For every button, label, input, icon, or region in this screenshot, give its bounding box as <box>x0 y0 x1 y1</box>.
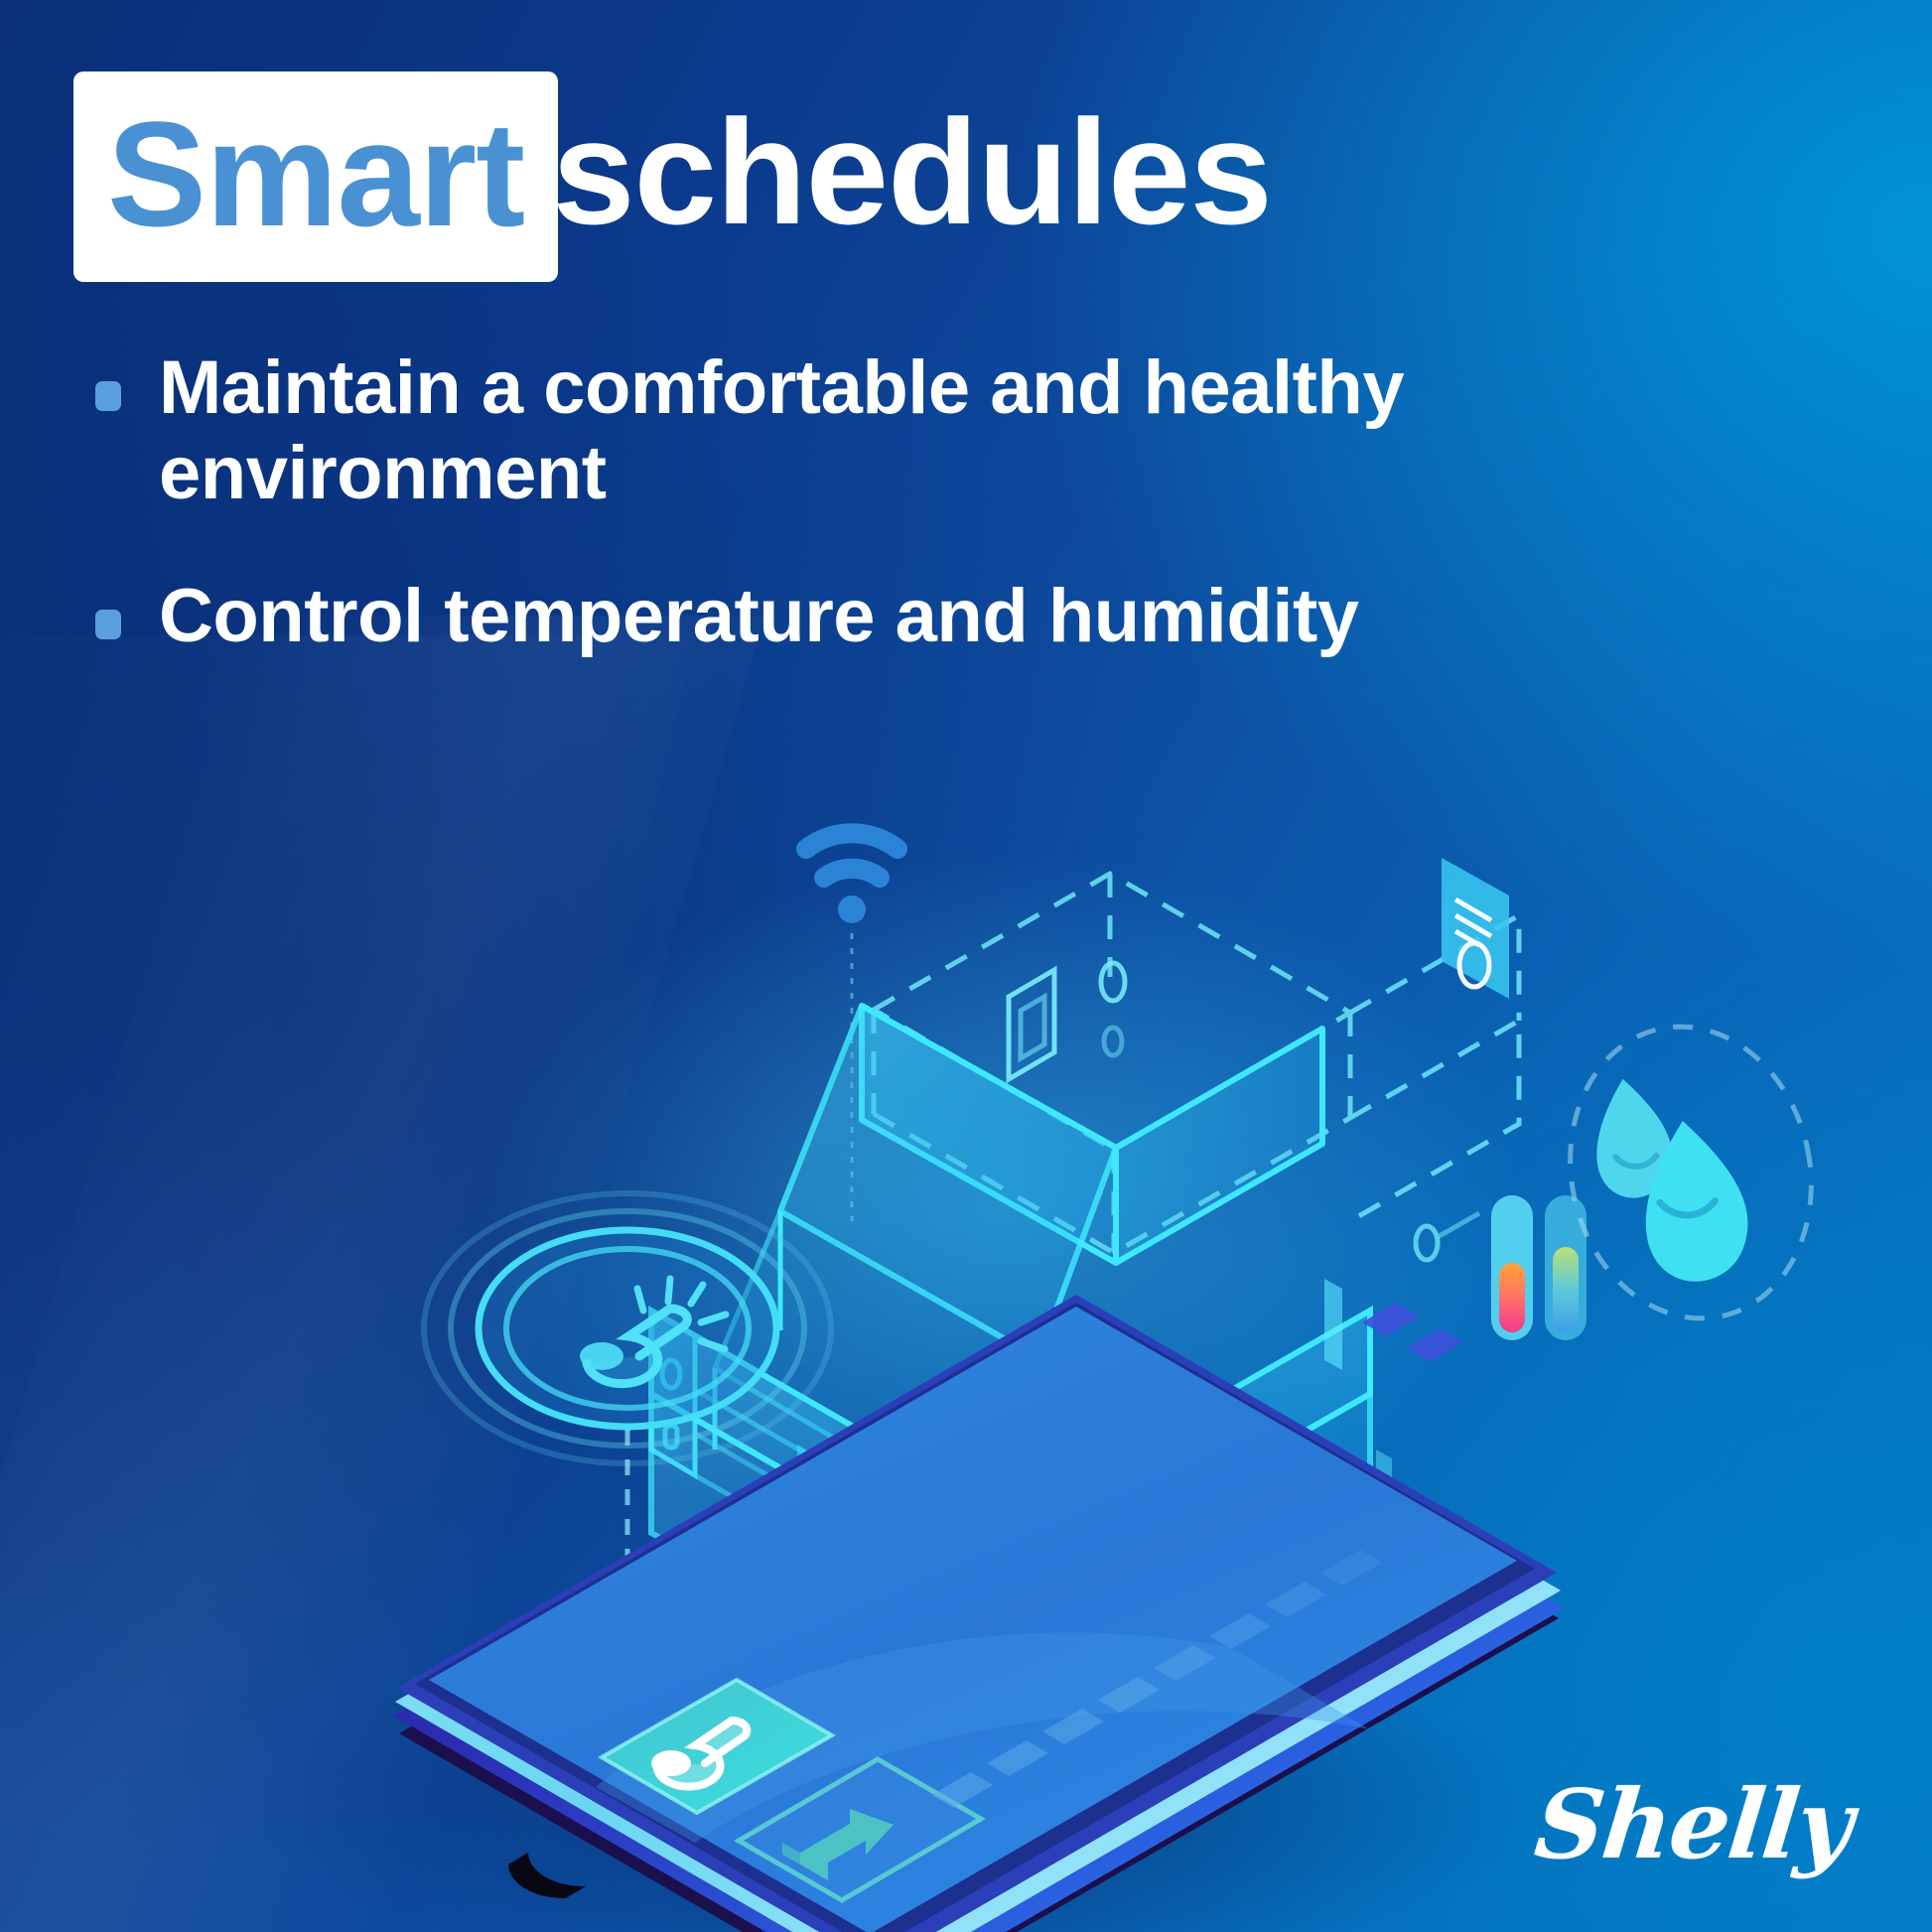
page-title: Smart schedules <box>73 71 1272 282</box>
shelly-logo: Shelly <box>1530 1768 1857 1880</box>
water-drop-icon <box>1584 1061 1757 1295</box>
headline-highlight: Smart <box>73 71 558 282</box>
feature-list: Maintain a comfortable and healthy envir… <box>95 345 1843 717</box>
list-item: Maintain a comfortable and healthy envir… <box>95 345 1843 516</box>
temperature-bar <box>1499 1263 1525 1332</box>
bullet-marker-icon <box>95 610 121 639</box>
humidity-badge <box>1544 1004 1838 1340</box>
list-item: Control temperature and humidity <box>95 574 1843 659</box>
bullet-marker-icon <box>95 381 121 411</box>
headline-rest: schedules <box>552 97 1272 246</box>
humidity-bar <box>1553 1247 1579 1332</box>
illustration-stage <box>0 755 1932 1932</box>
bullet-text: Maintain a comfortable and healthy envir… <box>159 345 1479 516</box>
temperature-humidity-sensor <box>1491 1195 1587 1340</box>
wall-control-panel <box>1442 858 1509 999</box>
bullet-text: Control temperature and humidity <box>159 574 1359 659</box>
